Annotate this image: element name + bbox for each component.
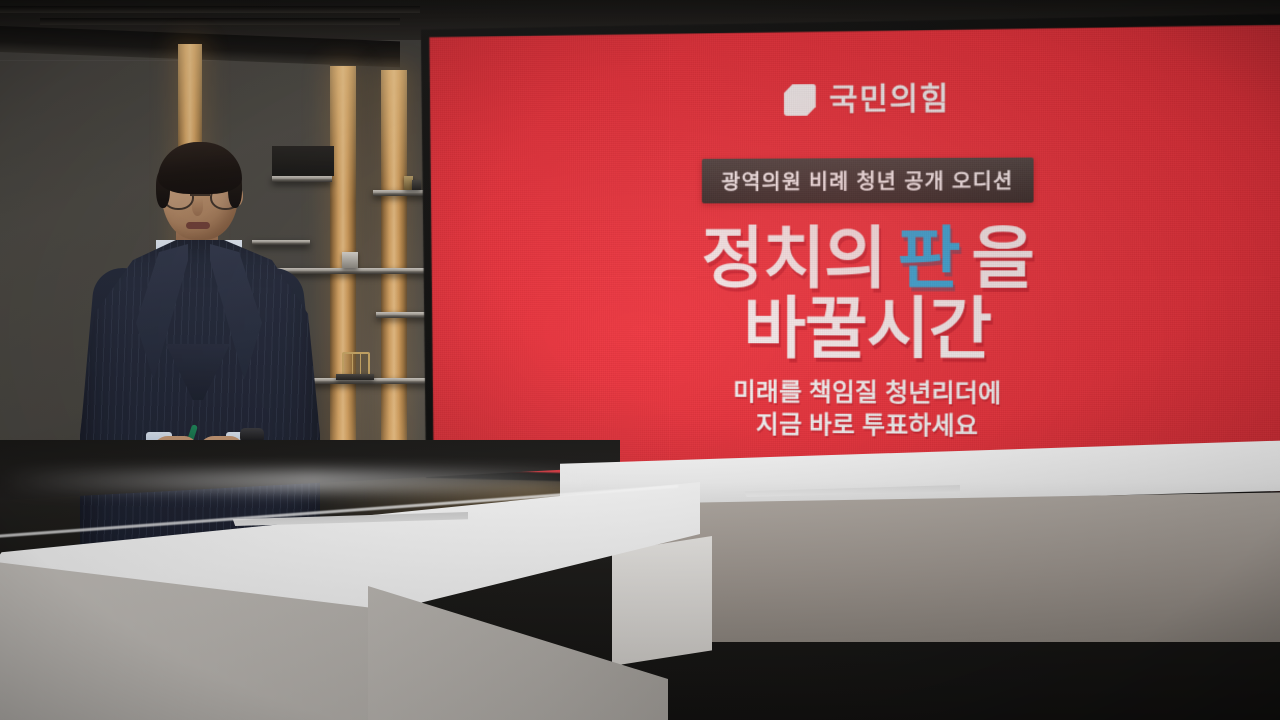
headline-line1-part1: 정치의	[702, 220, 887, 295]
slide-kicker-banner: 광역의원 비례 청년 공개 오디션	[702, 157, 1034, 203]
ceiling-beam	[0, 6, 420, 13]
wood-light-column	[381, 70, 407, 490]
headline-line1-part2: 을	[971, 220, 1034, 296]
brand-lockup: 국민의힘	[784, 83, 950, 116]
kukminuihim-logo-mark-icon	[784, 84, 816, 116]
slide-subtitle: 미래를 책임질 청년리더에 지금 바로 투표하세요	[733, 377, 1001, 442]
studio-anchor-desk	[0, 440, 1280, 720]
anchor-mouth	[186, 222, 210, 229]
desk-back-panel	[614, 492, 1280, 642]
subtitle-line1: 미래를 책임질 청년리더에	[733, 377, 1001, 410]
desk-underlight	[0, 470, 620, 492]
campaign-slide: 국민의힘 광역의원 비례 청년 공개 오디션 정치의판을 바꿀시간 미래를 책임…	[426, 24, 1280, 491]
brand-name-label: 국민의힘	[829, 84, 950, 115]
led-wall-screen[interactable]: 국민의힘 광역의원 비례 청년 공개 오디션 정치의판을 바꿀시간 미래를 책임…	[426, 24, 1280, 491]
headline-line2: 바꿀시간	[702, 295, 1034, 362]
led-video-wall[interactable]: 국민의힘 광역의원 비례 청년 공개 오디션 정치의판을 바꿀시간 미래를 책임…	[412, 13, 1280, 499]
shelf-ornament	[342, 252, 358, 268]
anchor-hair	[158, 142, 242, 194]
desk-mid-panel	[612, 536, 712, 666]
wood-light-column	[330, 66, 356, 490]
headline-line1-accent: 판	[898, 220, 960, 296]
anchor-nose	[192, 198, 203, 216]
subtitle-line2: 지금 바로 투표하세요	[733, 409, 1001, 443]
ceiling-beam	[40, 18, 400, 25]
shelf-ornament-base	[336, 374, 374, 380]
broadcast-frame: 국민의힘 광역의원 비례 청년 공개 오디션 정치의판을 바꿀시간 미래를 책임…	[0, 0, 1280, 720]
slide-headline: 정치의판을 바꿀시간	[702, 225, 1034, 362]
